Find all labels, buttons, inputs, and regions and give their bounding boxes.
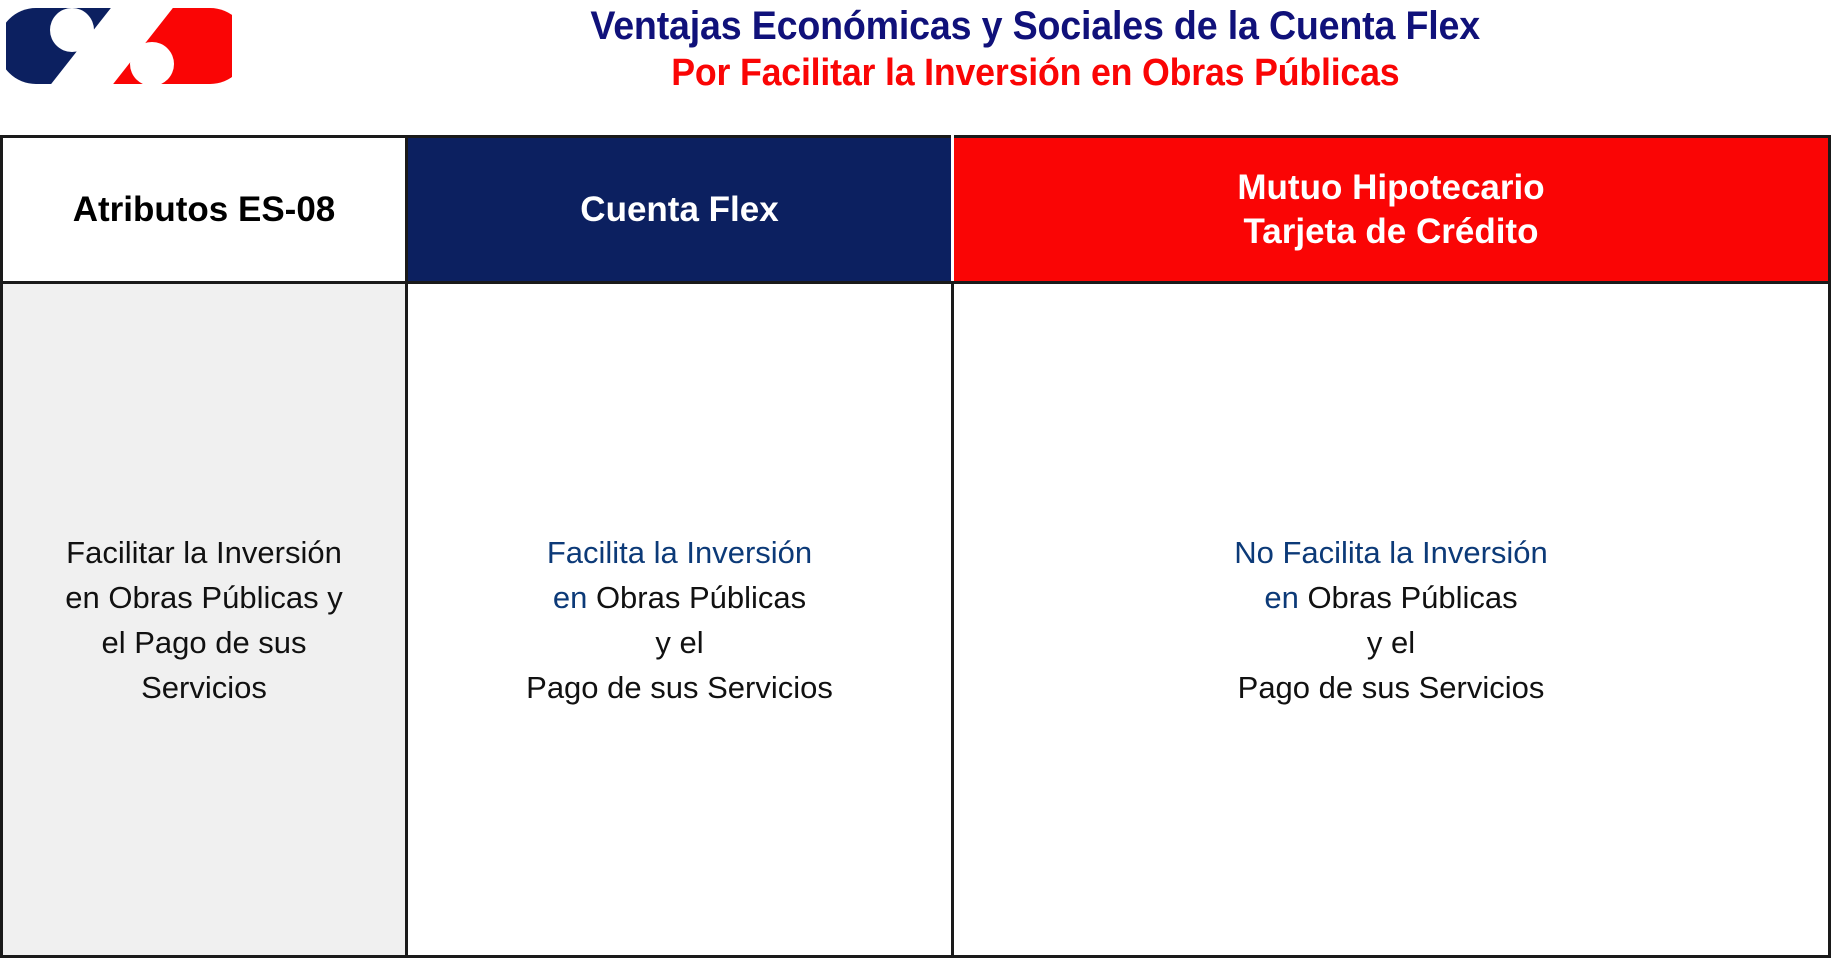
column-header-mutuo-hipotecario: Mutuo Hipotecario Tarjeta de Crédito (953, 137, 1830, 283)
mutuo-line-4: Pago de sus Servicios (954, 665, 1828, 710)
page-header-band: Ventajas Económicas y Sociales de la Cue… (0, 0, 1831, 104)
cuenta-flex-line-2: en Obras Públicas (408, 575, 951, 620)
mutuo-line-1: No Facilita la Inversión (954, 530, 1828, 575)
cuenta-flex-line-2-accent: en (553, 580, 587, 615)
mutuo-line-2-accent: en (1264, 580, 1298, 615)
mutuo-line-2-rest: Obras Públicas (1299, 580, 1518, 615)
comparison-table: Atributos ES-08 Cuenta Flex Mutuo Hipote… (0, 135, 1831, 958)
page-title-block: Ventajas Económicas y Sociales de la Cue… (240, 0, 1831, 104)
table-header-row: Atributos ES-08 Cuenta Flex Mutuo Hipote… (2, 137, 1830, 283)
mutuo-line-2: en Obras Públicas (954, 575, 1828, 620)
cell-mutuo-hipotecario-value: No Facilita la Inversión en Obras Públic… (953, 283, 1830, 957)
cuenta-flex-line-2-rest: Obras Públicas (587, 580, 806, 615)
column-header-mutuo-line1: Mutuo Hipotecario (954, 166, 1828, 210)
attribute-line-3: el Pago de sus (3, 620, 405, 665)
table-row: Facilitar la Inversión en Obras Públicas… (2, 283, 1830, 957)
cuenta-flex-line-1: Facilita la Inversión (408, 530, 951, 575)
company-parallelogram-logo (6, 4, 232, 88)
attribute-line-4: Servicios (3, 665, 405, 710)
cell-attribute-description: Facilitar la Inversión en Obras Públicas… (2, 283, 407, 957)
column-header-attributes: Atributos ES-08 (2, 137, 407, 283)
cuenta-flex-line-3: y el (408, 620, 951, 665)
attribute-line-2: en Obras Públicas y (3, 575, 405, 620)
mutuo-line-3: y el (954, 620, 1828, 665)
cuenta-flex-text-block: Facilita la Inversión en Obras Públicas … (408, 530, 951, 710)
column-header-cuenta-flex: Cuenta Flex (407, 137, 953, 283)
page-title-primary: Ventajas Económicas y Sociales de la Cue… (591, 2, 1481, 50)
attribute-text-block: Facilitar la Inversión en Obras Públicas… (3, 530, 405, 710)
mutuo-text-block: No Facilita la Inversión en Obras Públic… (954, 530, 1828, 710)
attribute-line-1: Facilitar la Inversión (3, 530, 405, 575)
page-title-secondary: Por Facilitar la Inversión en Obras Públ… (671, 50, 1399, 96)
cell-cuenta-flex-value: Facilita la Inversión en Obras Públicas … (407, 283, 953, 957)
column-header-mutuo-line2: Tarjeta de Crédito (954, 210, 1828, 254)
cuenta-flex-line-4: Pago de sus Servicios (408, 665, 951, 710)
